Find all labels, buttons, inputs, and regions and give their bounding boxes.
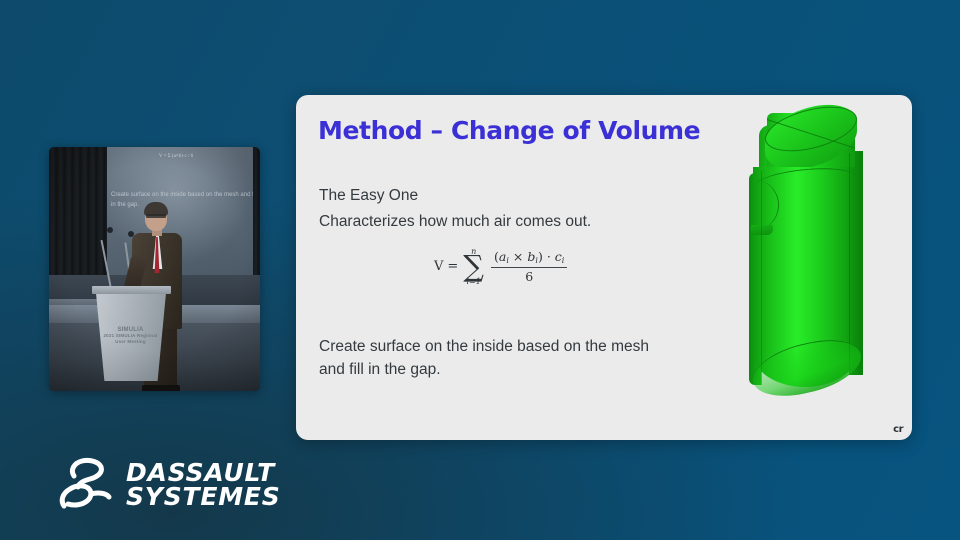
formula-num-times: × (513, 249, 523, 264)
presentation-stage: V = Σ (a×b)·c / 6 Create surface on the … (0, 0, 960, 540)
slide-body-top: The Easy One Characterizes how much air … (319, 183, 749, 235)
formula-num-c: c (555, 249, 562, 264)
formula-lhs: V (434, 259, 443, 274)
formula-equals: = (447, 259, 458, 274)
dassault-systemes-logo: DASSAULT SYSTEMES (54, 452, 294, 518)
formula-fraction: (ai × bi) · ci 6 (491, 249, 567, 284)
formula-summation: n ∑ i=1 (463, 248, 484, 286)
volume-formula: V = n ∑ i=1 (ai × bi) · ci 6 (434, 248, 567, 286)
slide-body-bottom-line-2: and fill in the gap. (319, 358, 729, 381)
slide-body-bottom: Create surface on the inside based on th… (319, 335, 729, 381)
slide-body-bottom-line-1: Create surface on the inside based on th… (319, 335, 729, 358)
green-3d-cylinder-part (749, 107, 909, 407)
formula-num-a-sub: i (506, 256, 509, 265)
formula-numerator: (ai × bi) · ci (491, 249, 567, 268)
model-left-seam (761, 171, 762, 385)
card-watermark: cr (893, 424, 903, 435)
formula-num-close: ) (538, 249, 543, 264)
sigma-icon: ∑ (463, 255, 484, 279)
formula-denominator: 6 (525, 268, 533, 285)
page-title: Method – Change of Volume (318, 116, 700, 145)
presenter-video[interactable]: V = Σ (a×b)·c / 6 Create surface on the … (49, 147, 260, 391)
formula-sigma-lower: i=1 (466, 278, 480, 286)
logo-wordmark: DASSAULT SYSTEMES (126, 461, 281, 509)
slide-body-top-line-1: The Easy One (319, 183, 749, 209)
slide-body-top-line-2: Characterizes how much air comes out. (319, 209, 749, 235)
logo-line-2: SYSTEMES (126, 485, 281, 509)
3ds-compass-icon (54, 454, 116, 516)
model-right-seam (849, 153, 850, 375)
slide-card: Method – Change of Volume The Easy One C… (296, 95, 912, 440)
formula-num-dot: · (547, 249, 551, 264)
formula-num-c-sub: i (562, 256, 565, 265)
video-vignette (49, 147, 260, 391)
